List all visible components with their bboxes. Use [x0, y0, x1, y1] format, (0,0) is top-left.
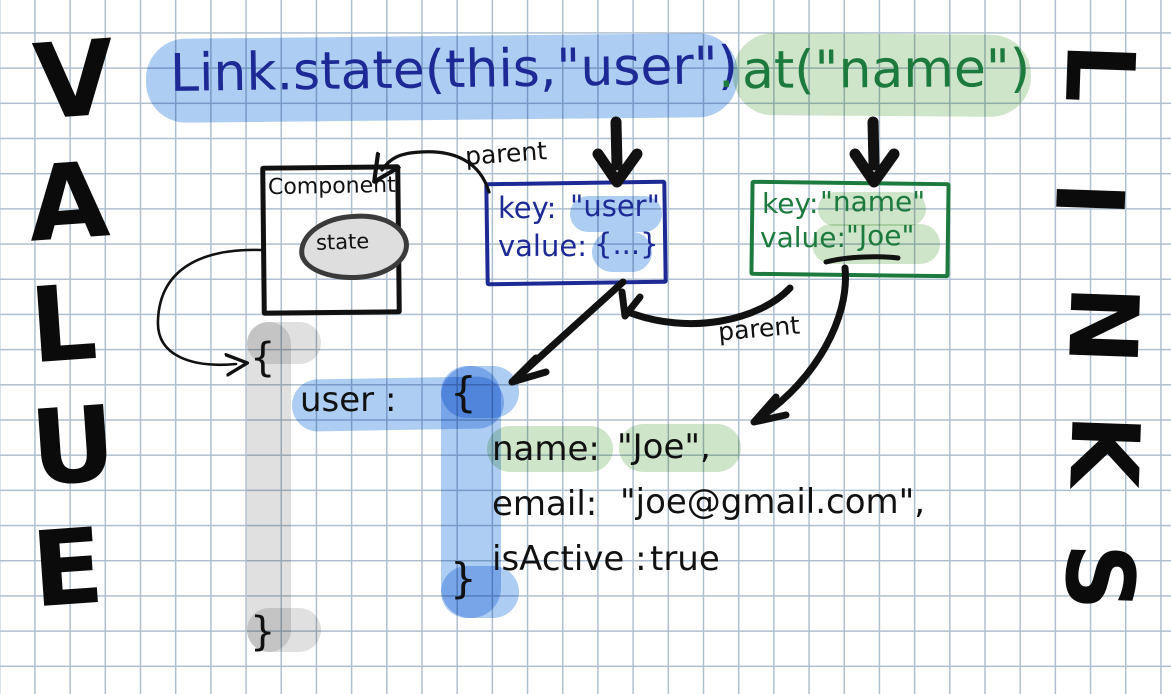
link-box-blue-key-value: "user" — [570, 192, 660, 221]
code-inner-open-brace: { — [450, 372, 477, 414]
link-box-green-value-label: value: — [760, 224, 846, 252]
parent-label-top: parent — [464, 138, 547, 169]
side-letter-l: L — [26, 270, 99, 378]
link-box-blue-value-value: {...} — [594, 230, 659, 259]
side-letter-n: N — [1053, 284, 1150, 366]
side-letter-e: E — [28, 514, 106, 623]
side-letter-i: I — [1040, 180, 1135, 218]
formula-green-part: at("name") — [742, 43, 1030, 97]
component-box-title: Component — [268, 175, 396, 199]
diagram-canvas: V A L U E L I N K S — [0, 0, 1171, 694]
link-box-green-value-value: "Joe" — [846, 222, 914, 250]
formula-dot: . — [718, 44, 735, 96]
link-box-green-key-label: key: — [762, 190, 818, 218]
side-letter-s: S — [1050, 542, 1146, 613]
code-line-email-value: "joe@gmail.com", — [620, 485, 925, 519]
link-box-blue-key-label: key: — [498, 194, 556, 223]
code-line-isactive-value: true — [650, 542, 720, 576]
side-letter-u: U — [27, 391, 119, 501]
code-line-name-key: name: — [492, 432, 600, 466]
arrow-blue-box-to-user-line — [512, 282, 623, 382]
arrow-down-to-blue-box — [598, 122, 637, 182]
code-line-name-value: "Joe", — [617, 430, 711, 464]
side-letter-l2: L — [1050, 41, 1146, 104]
parent-label-middle: parent — [717, 312, 801, 344]
state-label: state — [316, 231, 370, 254]
side-letter-a: A — [24, 147, 112, 256]
code-outer-close-brace: } — [250, 612, 275, 652]
code-line-isactive-key: isActive : — [492, 542, 647, 576]
code-line-email-key: email: — [492, 487, 597, 521]
code-outer-open-brace: { — [250, 338, 275, 378]
link-box-blue-value-label: value: — [498, 232, 587, 261]
code-user-key: user : — [300, 383, 396, 417]
code-inner-close-brace: } — [450, 558, 477, 600]
side-letter-k: K — [1054, 413, 1150, 489]
arrow-down-to-green-box — [855, 122, 894, 182]
graph-paper-sheet: V A L U E L I N K S — [0, 0, 1171, 694]
link-box-green-key-value: "name" — [820, 188, 925, 216]
side-letter-v: V — [30, 25, 118, 134]
formula-blue-part: Link.state(this,"user") — [170, 40, 739, 100]
